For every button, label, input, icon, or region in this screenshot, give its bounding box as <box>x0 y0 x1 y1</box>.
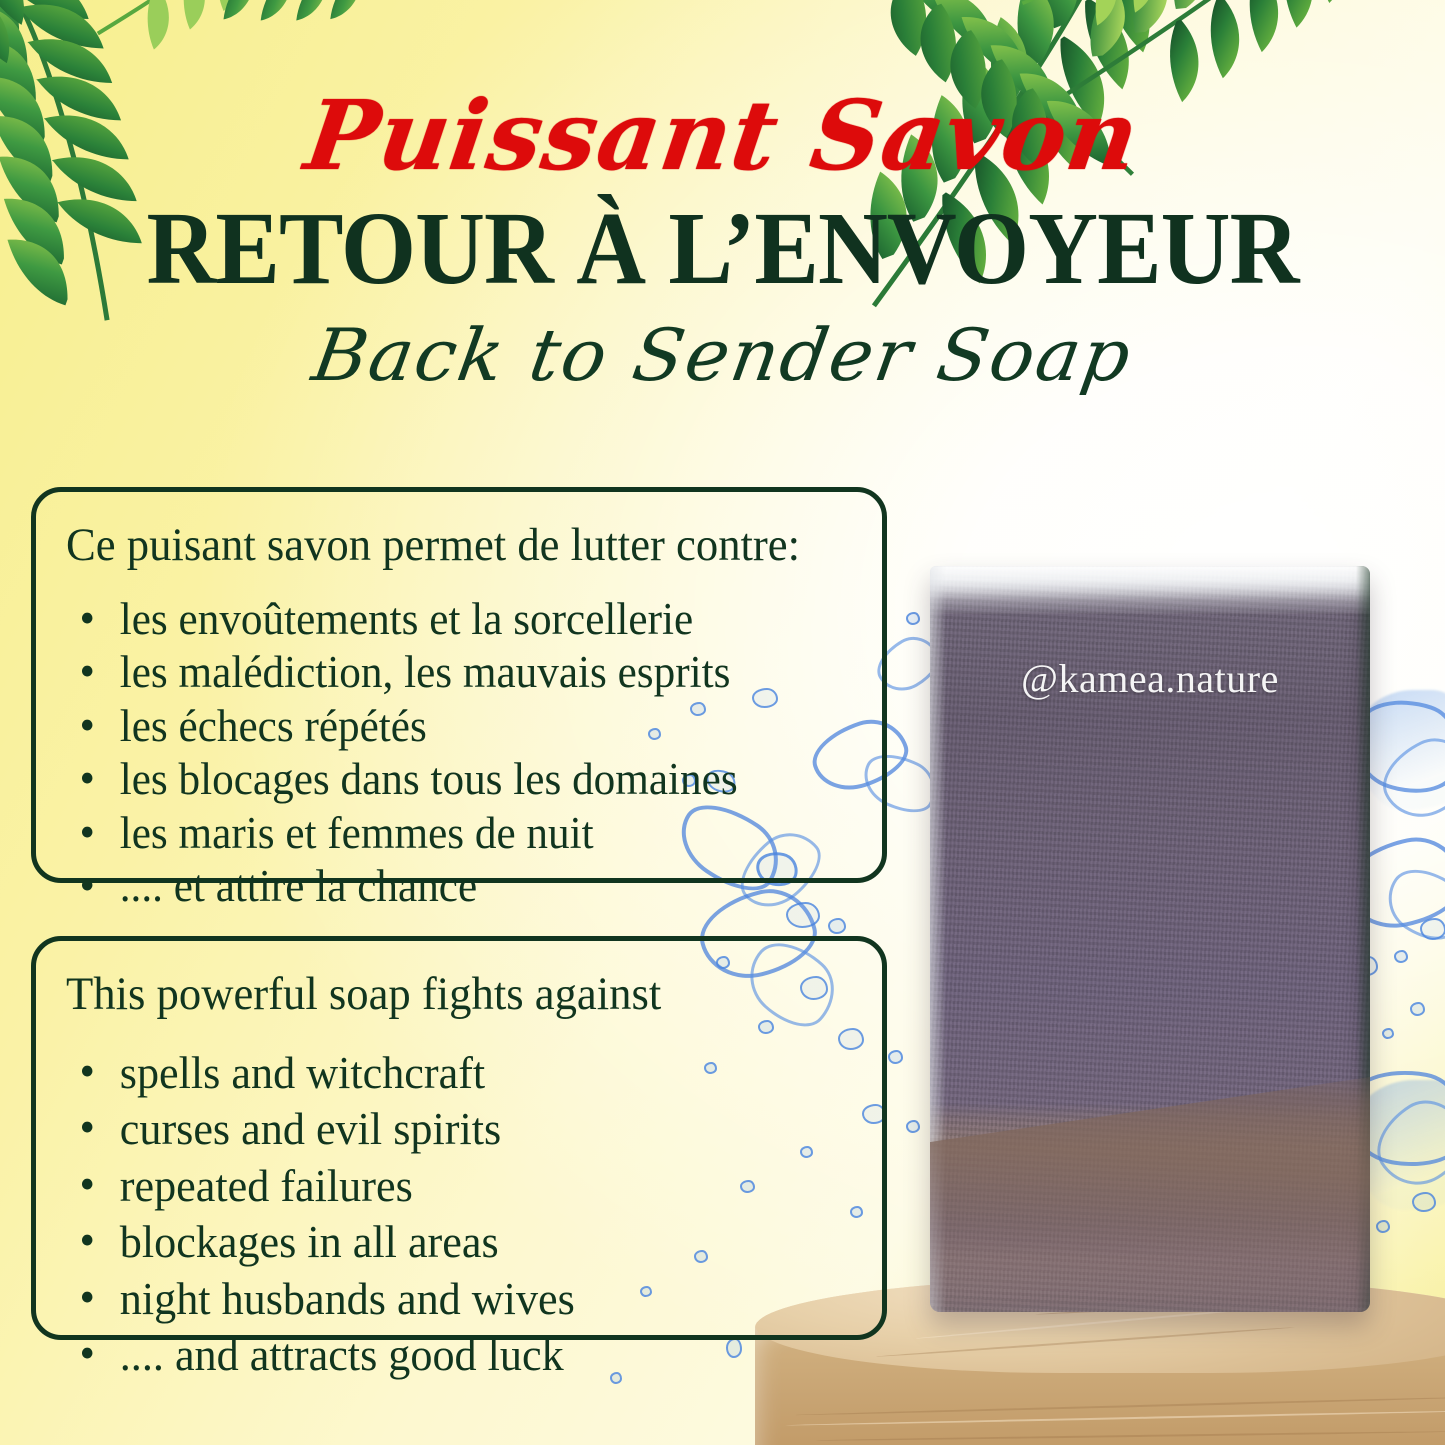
title-block: Puissant Savon RETOUR À L’ENVOYEUR Back … <box>0 88 1445 395</box>
list-item: blockages in all areas <box>66 1216 821 1268</box>
script-title: Puissant Savon <box>0 88 1445 184</box>
list-item: les blocages dans tous les domaines <box>66 754 821 804</box>
list-item: .... and attracts good luck <box>66 1329 821 1381</box>
list-item: les maris et femmes de nuit <box>66 808 821 858</box>
english-benefit-list: spells and witchcraft curses and evil sp… <box>66 1047 852 1382</box>
soap-lower-tone <box>930 1062 1370 1312</box>
list-item: repeated failures <box>66 1160 821 1212</box>
list-item: night husbands and wives <box>66 1273 821 1325</box>
french-benefit-list: les envoûtements et la sorcellerie les m… <box>66 594 852 911</box>
english-info-box: This powerful soap fights against spells… <box>31 936 887 1340</box>
subtitle-script: Back to Sender Soap <box>0 316 1445 395</box>
french-box-heading: Ce puisant savon permet de lutter contre… <box>66 518 813 572</box>
list-item: .... et attire la chance <box>66 861 821 911</box>
page-title: RETOUR À L’ENVOYEUR <box>51 194 1395 304</box>
list-item: les échecs répétés <box>66 701 821 751</box>
poster-canvas: Puissant Savon RETOUR À L’ENVOYEUR Back … <box>0 0 1445 1445</box>
french-info-box: Ce puisant savon permet de lutter contre… <box>31 487 887 883</box>
list-item: curses and evil spirits <box>66 1103 821 1155</box>
list-item: les malédiction, les mauvais esprits <box>66 647 821 697</box>
soap-wrapper-top <box>930 566 1370 614</box>
soap-bar-product <box>930 566 1370 1312</box>
list-item: les envoûtements et la sorcellerie <box>66 594 821 644</box>
list-item: spells and witchcraft <box>66 1047 821 1099</box>
english-box-heading: This powerful soap fights against <box>66 967 813 1021</box>
